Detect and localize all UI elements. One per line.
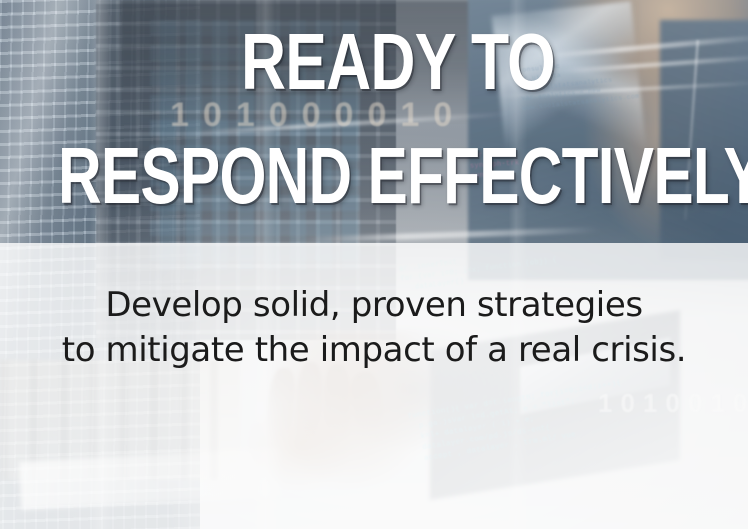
subtitle-line-2: to mitigate the impact of a real crisis. bbox=[0, 328, 748, 373]
headline-group: READY TO RESPOND EFFECTIVELY bbox=[0, 0, 748, 243]
subtitle-line-1: Develop solid, proven strategies bbox=[0, 283, 748, 328]
code-overlay-lower: function(){ var d=t.length; for(i=0;i<d;… bbox=[407, 378, 629, 466]
binary-digits-lower: 1010010 bbox=[598, 388, 748, 419]
promo-banner: consultanc rt.ui.data x.socialstatsanaly… bbox=[0, 0, 748, 529]
desk-paper bbox=[19, 448, 281, 510]
thumb bbox=[348, 370, 386, 434]
finger-2 bbox=[294, 361, 324, 446]
storefront-reflection bbox=[0, 360, 240, 480]
headline-line-2: RESPOND EFFECTIVELY bbox=[58, 136, 748, 216]
finger-1 bbox=[264, 367, 298, 443]
headline-line-1: READY TO bbox=[241, 22, 555, 102]
finger-3 bbox=[324, 364, 350, 444]
